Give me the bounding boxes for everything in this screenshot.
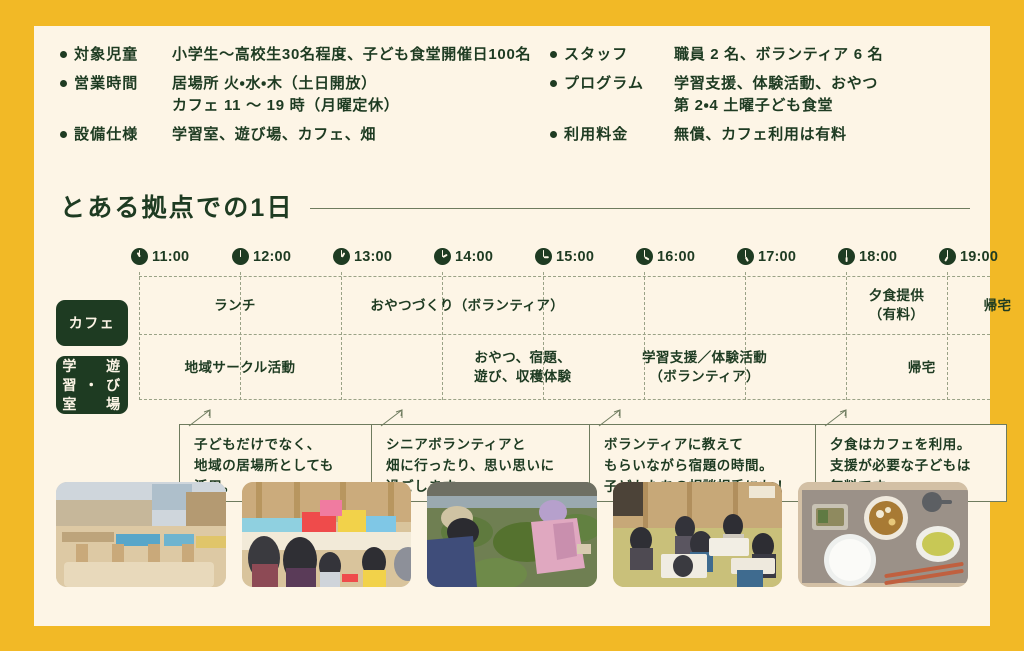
info-value-line: 学習室、遊び場、カフェ、畑 (172, 124, 376, 146)
timeline-cell: 夕食提供（有料） (846, 278, 947, 332)
timeline-tick-label: 14:00 (455, 249, 493, 265)
bullet-icon (550, 44, 564, 58)
info-value: 小学生〜高校生30名程度、子ども食堂開催日100名 (172, 44, 531, 66)
timeline-tick-1400: 14:00 (434, 248, 493, 265)
facility-info: 対象児童 小学生〜高校生30名程度、子ども食堂開催日100名 営業時間 居場所 … (34, 44, 990, 153)
info-label: 対象児童 (74, 44, 172, 66)
info-row-facilities: 設備仕様 学習室、遊び場、カフェ、畑 (60, 124, 550, 146)
timeline-tick-1200: 12:00 (232, 248, 291, 265)
timeline-tick-label: 18:00 (859, 249, 897, 265)
info-value-line: 第 2・4 土曜子ども食堂 (674, 95, 878, 117)
callout-line: 支援が必要な子どもは (830, 455, 994, 476)
callout-leader-line (188, 409, 218, 427)
callout-leader-line (380, 409, 410, 427)
timeline-cell: 地域サークル活動 (139, 338, 341, 396)
photo-strip (56, 482, 968, 587)
clock-icon (737, 248, 754, 265)
info-value-line: 無償、カフェ利用は有料 (674, 124, 847, 146)
info-label: 営業時間 (74, 73, 172, 95)
timeline-tick-label: 19:00 (960, 249, 998, 265)
timeline-tick-1500: 15:00 (535, 248, 594, 265)
timeline-tick-label: 17:00 (758, 249, 796, 265)
callout-line: 子どもだけでなく、 (194, 434, 359, 455)
callout-line: ボランティアに教えて (604, 434, 803, 455)
clock-icon (333, 248, 350, 265)
info-row-fee: 利用料金 無償、カフェ利用は有料 (550, 124, 990, 146)
timeline-cell: 帰宅 (856, 338, 987, 396)
info-label: 設備仕様 (74, 124, 172, 146)
bullet-icon (60, 73, 74, 87)
timeline-row-divider (139, 334, 990, 335)
timeline-tick-label: 11:00 (152, 249, 189, 265)
info-value: 無償、カフェ利用は有料 (674, 124, 847, 146)
timeline-cell: おやつ、宿題、遊び、収穫体験 (442, 338, 604, 396)
info-row-staff: スタッフ 職員 2 名、ボランティア 6 名 (550, 44, 990, 66)
timeline-tick-1700: 17:00 (737, 248, 796, 265)
timeline-tick-1900: 19:00 (939, 248, 998, 265)
info-value: 居場所 火・水・木（土日開放） カフェ 11 〜 19 時（月曜定休） (172, 73, 400, 117)
timeline-tick-label: 13:00 (354, 249, 392, 265)
bullet-icon (60, 124, 74, 138)
callout-leader-line (598, 409, 628, 427)
clock-icon (131, 248, 148, 265)
callout-line: もらいながら宿題の時間。 (604, 455, 803, 476)
photo-study-support (613, 482, 783, 587)
info-value: 学習支援、体験活動、おやつ 第 2・4 土曜子ども食堂 (674, 73, 878, 117)
info-row-target-children: 対象児童 小学生〜高校生30名程度、子ども食堂開催日100名 (60, 44, 550, 66)
info-value: 職員 2 名、ボランティア 6 名 (674, 44, 883, 66)
timeline-axis: 11:0012:0013:0014:0015:0016:0017:0018:00… (34, 248, 990, 272)
timeline-cell: おやつづくり（ボランティア） (331, 278, 604, 332)
photo-children-playing (242, 482, 412, 587)
callout-line: 夕食はカフェを利用。 (830, 434, 994, 455)
callout-leader-line (824, 409, 854, 427)
timeline-tick-1300: 13:00 (333, 248, 392, 265)
timeline-cell: ランチ (139, 278, 331, 332)
timeline-tick-1800: 18:00 (838, 248, 897, 265)
timeline-tick-1100: 11:00 (131, 248, 189, 265)
photo-meal (798, 482, 968, 587)
info-value-line: 居場所 火・水・木（土日開放） (172, 73, 400, 95)
info-value: 学習室、遊び場、カフェ、畑 (172, 124, 376, 146)
callout-line: 畑に行ったり、思い思いに (386, 455, 577, 476)
timeline-row-divider (139, 399, 990, 400)
page-title: とある拠点での1日 (60, 188, 294, 224)
info-row-hours: 営業時間 居場所 火・水・木（土日開放） カフェ 11 〜 19 時（月曜定休） (60, 73, 550, 117)
clock-icon (232, 248, 249, 265)
timeline-cell: 学習支援／体験活動（ボランティア） (604, 338, 806, 396)
info-value-line: 学習支援、体験活動、おやつ (674, 73, 878, 95)
clock-icon (434, 248, 451, 265)
bullet-icon (550, 73, 564, 87)
info-value-line: 職員 2 名、ボランティア 6 名 (674, 44, 883, 66)
info-label: プログラム (564, 73, 674, 95)
facility-info-right-column: スタッフ 職員 2 名、ボランティア 6 名 プログラム 学習支援、体験活動、お… (550, 44, 990, 153)
callout-line: 地域の居場所としても (194, 455, 359, 476)
heading-rule (310, 208, 970, 209)
clock-icon (636, 248, 653, 265)
info-row-program: プログラム 学習支援、体験活動、おやつ 第 2・4 土曜子ども食堂 (550, 73, 990, 117)
section-heading: とある拠点での1日 (60, 188, 970, 224)
info-value-line: 小学生〜高校生30名程度、子ども食堂開催日100名 (172, 44, 531, 66)
content-panel: 対象児童 小学生〜高校生30名程度、子ども食堂開催日100名 営業時間 居場所 … (34, 26, 990, 626)
photo-field-harvest (427, 482, 597, 587)
photo-cafe-interior (56, 482, 226, 587)
clock-icon (838, 248, 855, 265)
bullet-icon (550, 124, 564, 138)
timeline-row-divider (139, 276, 990, 277)
row-badge-study: 学習室・遊び場 (56, 356, 128, 414)
facility-info-left-column: 対象児童 小学生〜高校生30名程度、子ども食堂開催日100名 営業時間 居場所 … (34, 44, 550, 153)
info-label: 利用料金 (564, 124, 674, 146)
info-label: スタッフ (564, 44, 674, 66)
callout-line: シニアボランティアと (386, 434, 577, 455)
timeline-cell: 帰宅 (947, 278, 1024, 332)
bullet-icon (60, 44, 74, 58)
timeline-tick-label: 15:00 (556, 249, 594, 265)
clock-icon (535, 248, 552, 265)
timeline-tick-label: 16:00 (657, 249, 695, 265)
timeline-tick-1600: 16:00 (636, 248, 695, 265)
daily-schedule-timeline: 11:0012:0013:0014:0015:0016:0017:0018:00… (34, 248, 990, 498)
info-value-line: カフェ 11 〜 19 時（月曜定休） (172, 95, 400, 117)
timeline-tick-label: 12:00 (253, 249, 291, 265)
timeline-grid: カフェ 学習室・遊び場 ランチおやつづくり（ボランティア）夕食提供（有料）帰宅地… (34, 272, 990, 400)
clock-icon (939, 248, 956, 265)
row-badge-cafe: カフェ (56, 300, 128, 346)
poster-page: 対象児童 小学生〜高校生30名程度、子ども食堂開催日100名 営業時間 居場所 … (0, 0, 1024, 651)
